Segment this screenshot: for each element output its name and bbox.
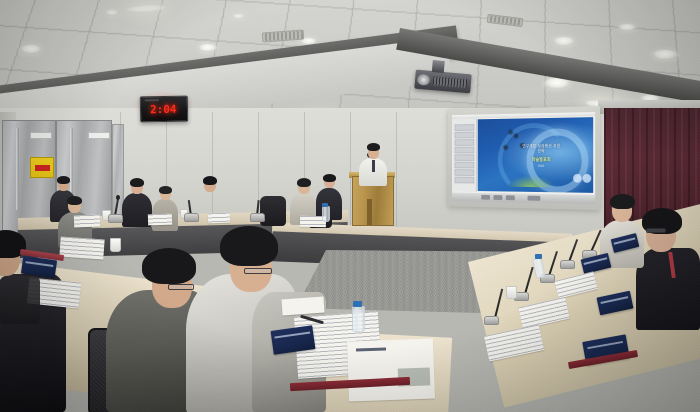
cabinet-label <box>30 132 52 139</box>
attendee <box>636 208 700 328</box>
microphone-base <box>484 316 499 325</box>
slide-title: 연구개발 성과확산 추진 전략 <box>520 143 562 153</box>
slide-thumbnail[interactable] <box>455 147 475 154</box>
projector-vents <box>433 76 468 88</box>
attendee-hair <box>130 178 144 187</box>
slide-thumbnail[interactable] <box>455 132 475 139</box>
slide-thumbnail[interactable] <box>455 169 475 176</box>
downlight <box>20 45 42 54</box>
eyeglasses <box>244 268 272 274</box>
presenter <box>358 142 388 184</box>
presentation-slide: 연구개발 성과확산 추진 전략 학술발표회 2024 <box>478 117 593 193</box>
slide-thumbnail[interactable] <box>455 124 475 131</box>
downlight <box>232 14 245 19</box>
microphone-base <box>184 213 199 222</box>
yellow-warning-sticker <box>30 157 54 178</box>
status-bar-button[interactable] <box>506 195 515 200</box>
name-card-text <box>600 296 628 304</box>
attendee-hair <box>323 174 336 182</box>
downlight <box>652 50 678 60</box>
digital-led-clock: 2:04 <box>140 96 188 123</box>
presentation-status-bar <box>452 192 595 203</box>
printed-document[interactable] <box>148 214 172 226</box>
slide-thumbnail[interactable] <box>455 162 475 169</box>
podium-trim <box>367 199 372 225</box>
cabinet-label <box>88 132 110 139</box>
downlight <box>553 37 575 46</box>
downlight <box>618 24 636 31</box>
attendee-torso <box>636 248 700 330</box>
attendee-hair <box>203 176 217 185</box>
name-card-text <box>614 237 636 244</box>
microphone-base <box>108 214 123 223</box>
conference-room-photo: 2:04 연구개발 성과확산 추진 전략 학술발표회 2024 <box>0 0 700 412</box>
slide-thumbnail[interactable] <box>455 154 475 161</box>
attendee-hair <box>297 178 311 187</box>
attendee-hair <box>159 186 172 194</box>
slide-green-glow <box>507 176 555 188</box>
downlight <box>105 10 119 16</box>
status-bar-button[interactable] <box>493 195 502 200</box>
downlight <box>198 44 217 52</box>
slide-thumbnail[interactable] <box>455 139 475 146</box>
slide-dot <box>573 174 582 183</box>
microphone-tip <box>116 195 120 200</box>
slide-subtitle-secondary: 2024 <box>520 164 562 168</box>
bottle-cap <box>535 254 542 259</box>
projection-screen: 연구개발 성과확산 추진 전략 학술발표회 2024 <box>448 106 600 210</box>
projector-lens <box>417 74 431 86</box>
cabinet-handle[interactable] <box>16 128 19 210</box>
eyeglasses <box>646 228 666 233</box>
name-card-text <box>584 257 607 265</box>
microphone-base <box>250 213 265 222</box>
screen-surface: 연구개발 성과확산 추진 전략 학술발표회 2024 <box>452 112 595 204</box>
microphone-base <box>560 260 575 269</box>
folded-paper-card[interactable] <box>281 297 324 316</box>
name-card-text <box>587 341 624 349</box>
water-bottle[interactable] <box>322 206 330 222</box>
status-bar-button[interactable] <box>481 195 490 200</box>
name-card-text <box>275 332 310 339</box>
attendee-hair <box>220 226 278 266</box>
presenter-tie <box>372 160 375 172</box>
paper-cup[interactable] <box>110 238 121 252</box>
attendee-hair <box>610 194 635 209</box>
clock-brand-mark <box>145 99 159 101</box>
slide-thumbnail[interactable] <box>455 177 475 184</box>
printed-document[interactable] <box>74 215 100 228</box>
presenter-hair <box>367 143 380 151</box>
bottle-cap <box>322 203 328 207</box>
slide-thumbnail-panel <box>452 118 477 192</box>
attendee-hair <box>67 196 82 205</box>
chair[interactable] <box>0 276 40 324</box>
status-bar-button[interactable] <box>527 196 540 201</box>
clock-digits: 2:04 <box>150 104 177 115</box>
water-bottle[interactable] <box>352 306 365 332</box>
attendee-hair <box>57 176 70 184</box>
paper-cup[interactable] <box>506 286 517 299</box>
printed-document[interactable] <box>59 236 104 259</box>
slide-dot <box>583 174 592 183</box>
name-card-text <box>25 261 54 267</box>
slide-subtitle: 학술발표회 <box>520 157 562 162</box>
bottle-cap <box>353 301 362 307</box>
